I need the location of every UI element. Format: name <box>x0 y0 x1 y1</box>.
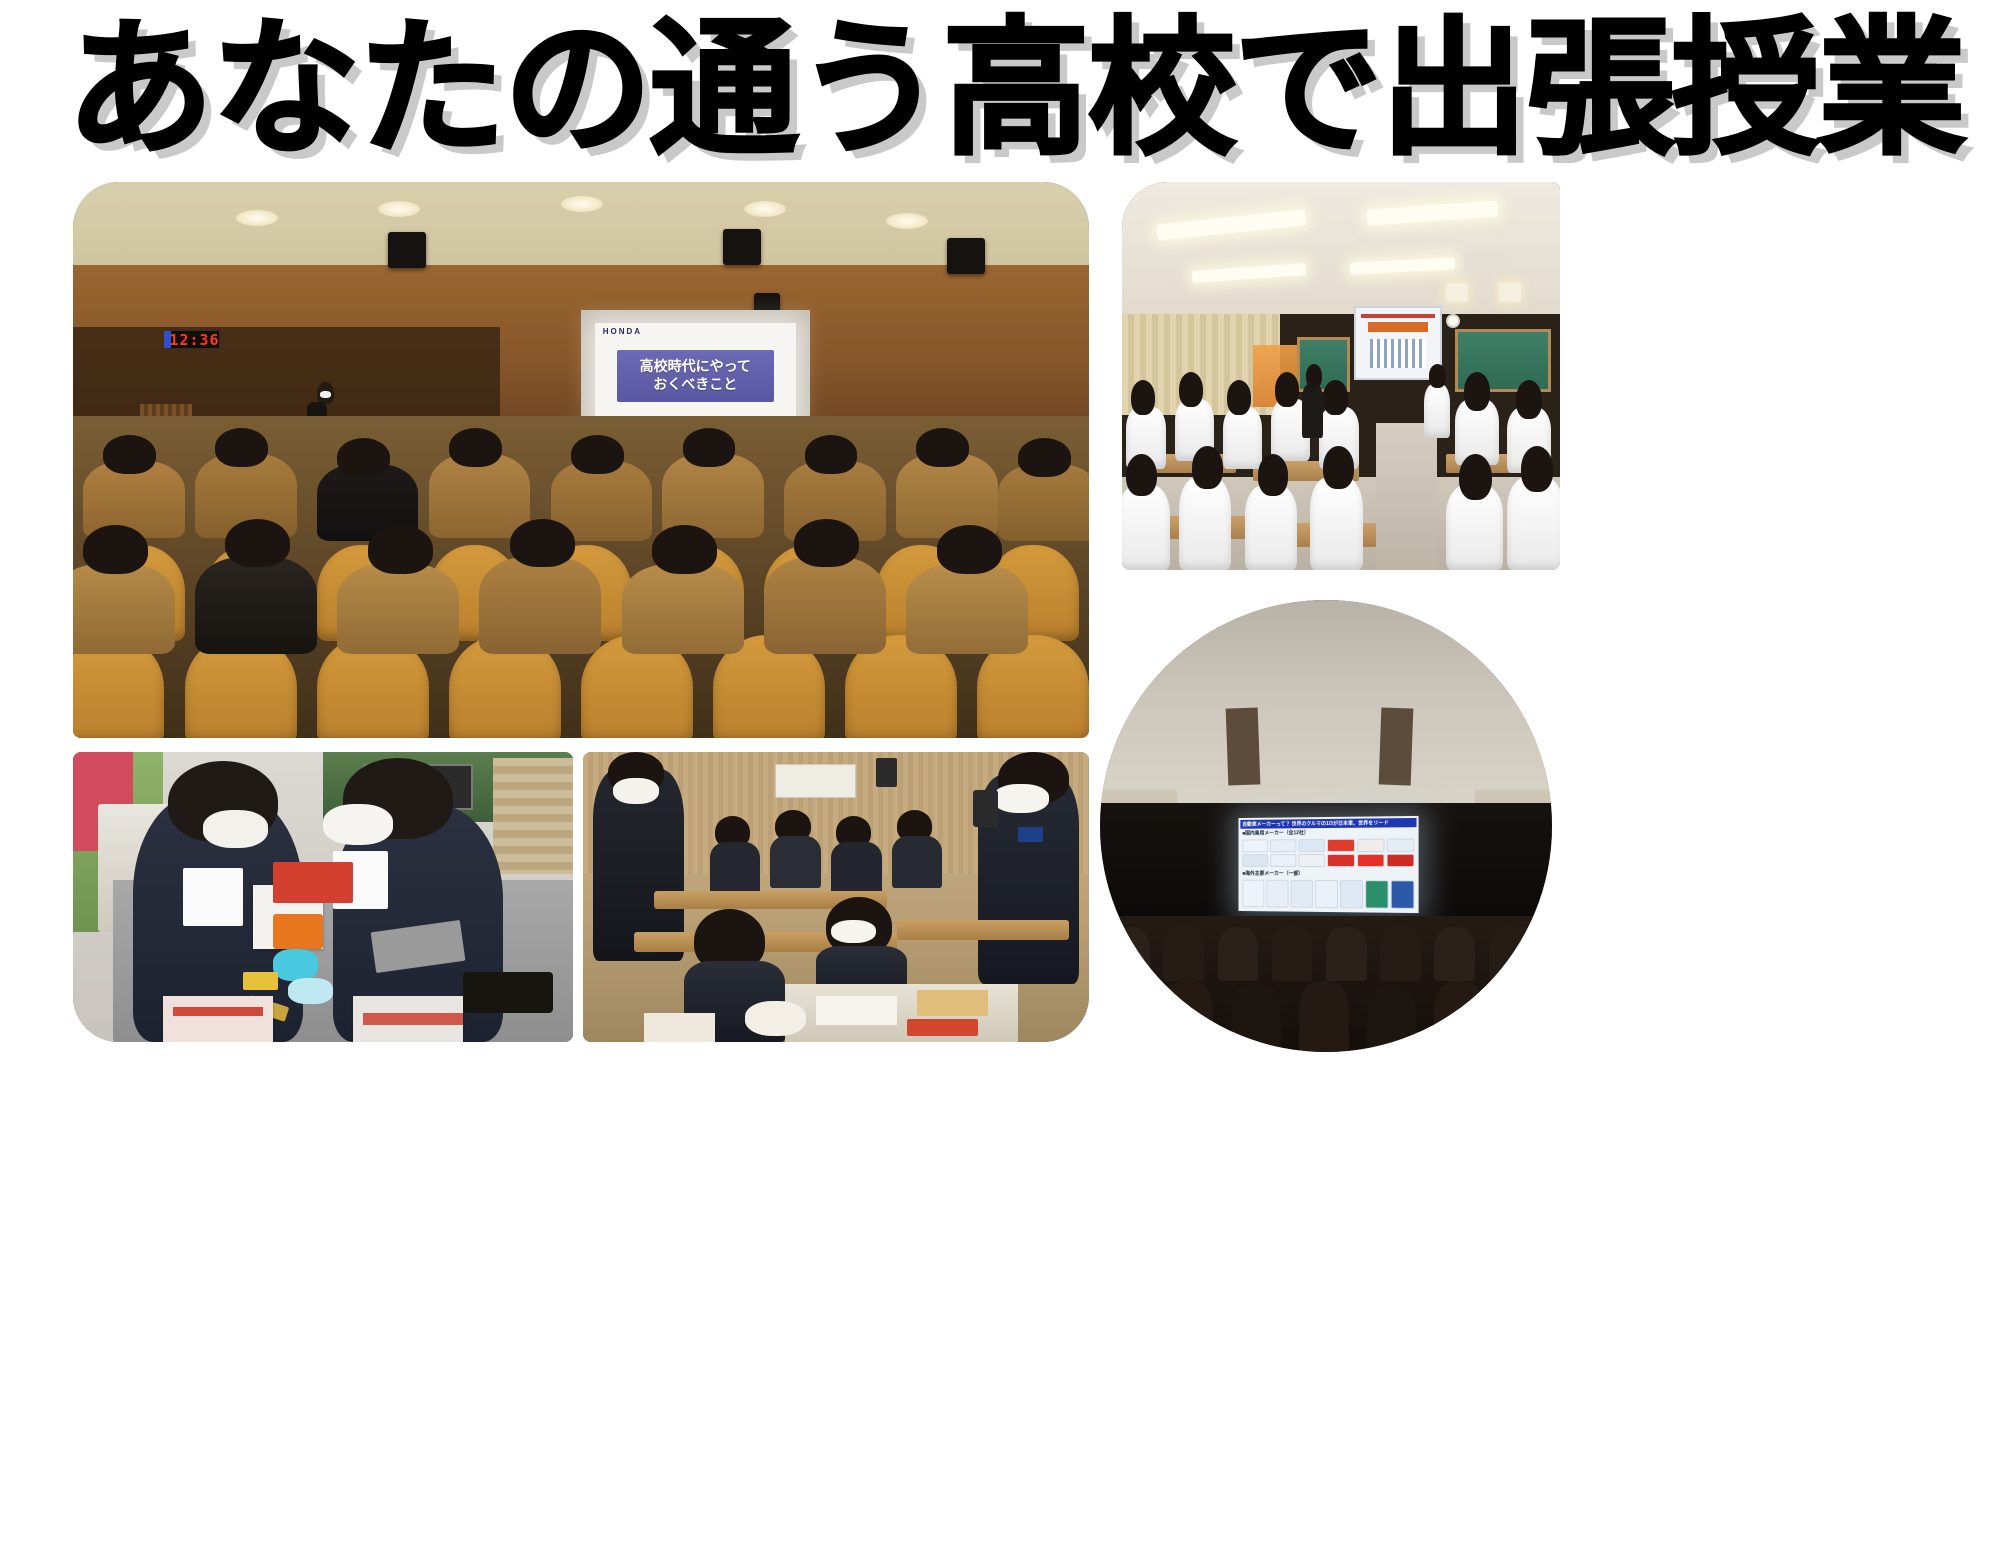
shirt-collar <box>183 868 243 926</box>
blue-part-icon <box>273 949 318 981</box>
orange-pouch <box>273 914 323 949</box>
slide-title-line1: 高校時代にやって <box>621 358 770 376</box>
ceiling <box>1100 600 1552 808</box>
photo-classroom-topright <box>1122 182 1560 570</box>
photo-groupwork-bottommid <box>583 752 1089 1042</box>
ceiling-speaker-icon <box>388 232 426 268</box>
paper-stack <box>644 1013 715 1042</box>
footer: Hondaの 自動車 大学校 ホンダ テクニカル カレッジ 関西 大阪府大阪狭山… <box>0 1330 2000 1545</box>
projected-slide: HONDA 高校時代にやって おくべきこと <box>595 323 796 419</box>
aisle <box>1376 423 1437 570</box>
red-folder <box>273 862 353 903</box>
audience-crowd <box>73 416 1089 738</box>
ceiling-panel <box>1225 708 1259 786</box>
face-mask-icon <box>613 778 659 804</box>
light-blue-part-icon <box>288 978 333 1004</box>
face-mask-icon <box>320 391 331 398</box>
face-mask-icon <box>993 784 1049 813</box>
white-bag <box>745 1001 806 1036</box>
ceiling-speaker-icon <box>723 229 761 265</box>
face-mask-icon <box>831 920 877 943</box>
spotlight-icon <box>1499 283 1521 302</box>
audience-seating <box>1100 916 1552 1052</box>
slide-title-line2: おくべきこと <box>621 376 770 394</box>
red-pouch <box>907 1019 978 1036</box>
worksheet <box>816 996 897 1025</box>
photo-workshop-bottomleft <box>73 752 573 1042</box>
ceiling-vent-icon <box>1464 252 1508 268</box>
worksheet <box>917 990 988 1016</box>
microphone-icon <box>973 790 998 828</box>
page-title: あなたの通う高校で出張授業 <box>36 15 1964 163</box>
wall-clock-icon <box>1446 314 1460 328</box>
slide-brand-label: HONDA <box>595 323 796 336</box>
notebook <box>163 996 273 1042</box>
pencil-case <box>463 972 553 1013</box>
wall-poster <box>775 764 856 799</box>
downlight-icon <box>561 196 603 212</box>
ceiling-speaker-icon <box>947 238 985 274</box>
yellow-part-icon <box>243 972 278 989</box>
wall-speaker-icon <box>876 758 896 787</box>
school-badge <box>1018 827 1043 842</box>
title-band: あなたの通う高校で出張授業 <box>0 0 2000 178</box>
logo-grid <box>1240 836 1416 869</box>
poster-root: あなたの通う高校で出張授業 12:36 HONDA 高校時代にやって おくべきこ… <box>0 0 2000 1545</box>
photo-hall-circle: 自動車メーカーって？ 世界のクルマの1/3が日本車、世界をリード ■国内乗用メー… <box>1100 600 1552 1052</box>
face-mask-icon <box>323 804 393 845</box>
logo-grid-overseas <box>1240 878 1416 911</box>
projection-screen <box>1354 306 1442 380</box>
ceiling-panel <box>1379 708 1413 786</box>
downlight-icon <box>236 210 278 226</box>
digital-clock: 12:36 <box>169 329 221 350</box>
downlight-icon <box>886 213 928 229</box>
face-mask-icon <box>203 810 268 848</box>
slide-title-box: 高校時代にやって おくべきこと <box>617 350 774 402</box>
photo-auditorium-main: 12:36 HONDA 高校時代にやって おくべきこと <box>73 182 1089 738</box>
spotlight-icon <box>1446 283 1468 302</box>
notebook-stripe <box>363 1013 463 1025</box>
notebook-stripe <box>173 1007 263 1016</box>
bookshelf <box>493 758 573 874</box>
projection-screen: 自動車メーカーって？ 世界のクルマの1/3が日本車、世界をリード ■国内乗用メー… <box>1238 816 1418 913</box>
